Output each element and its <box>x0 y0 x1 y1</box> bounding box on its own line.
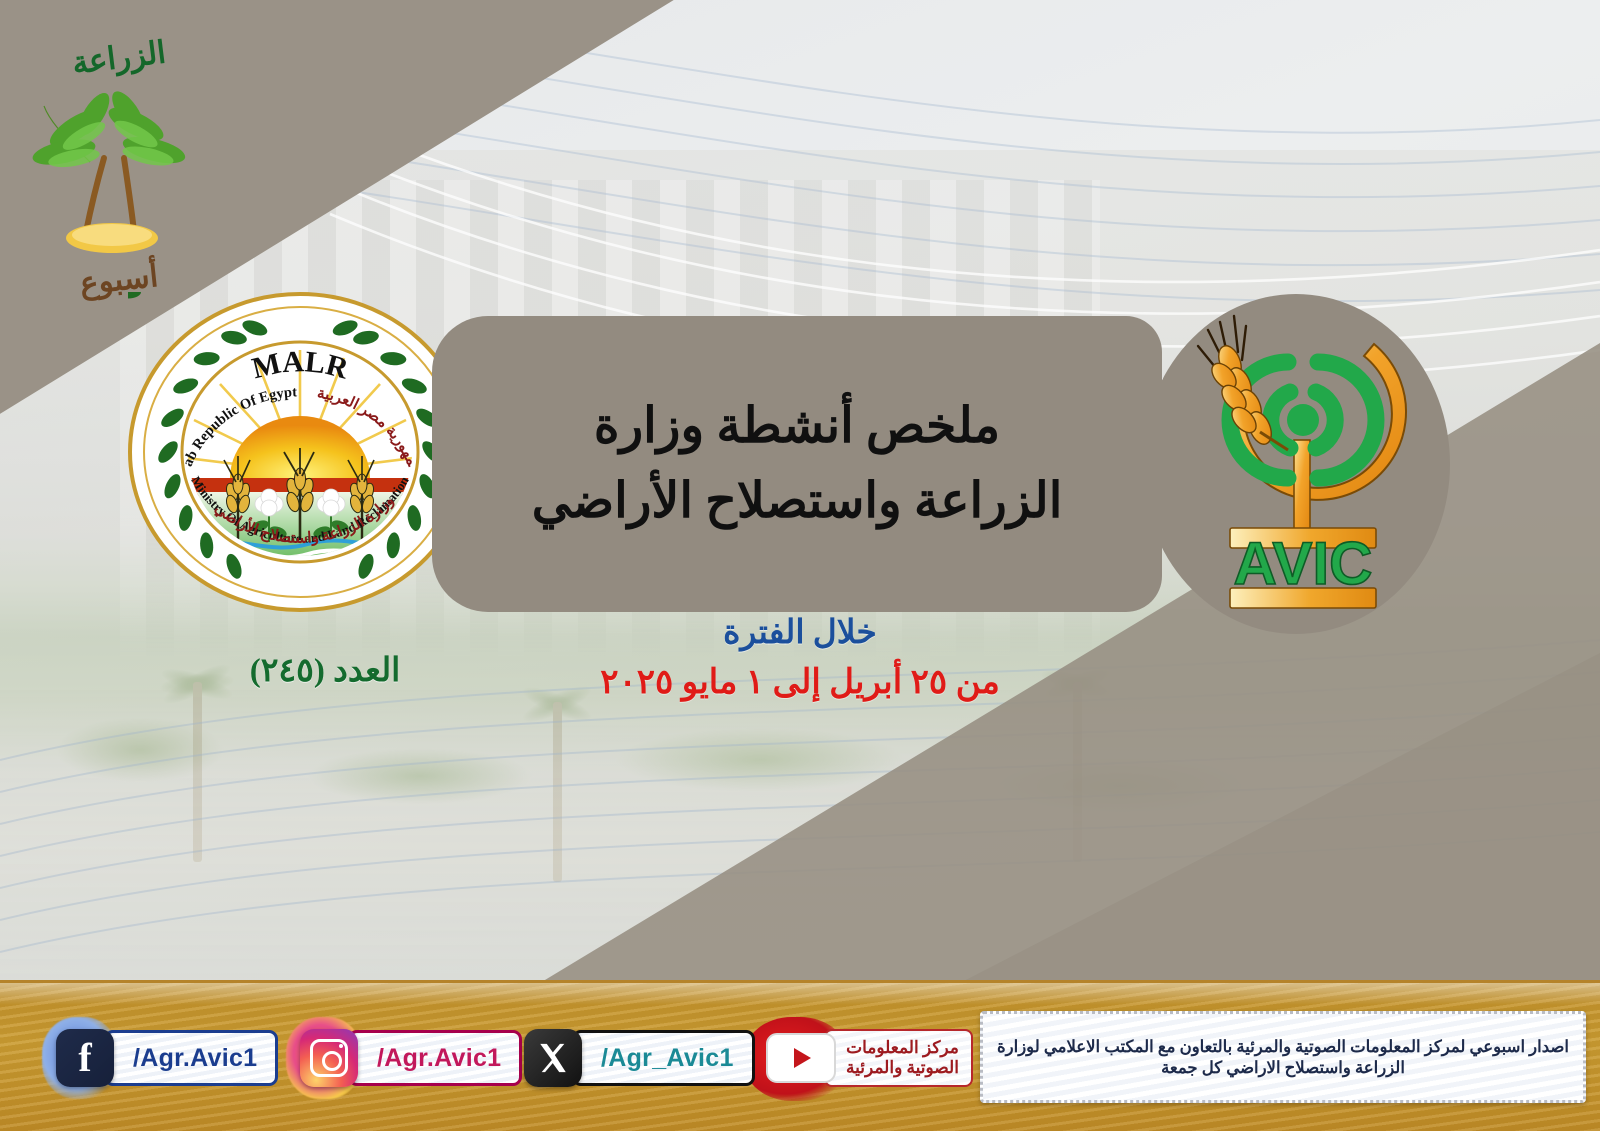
youtube-label: مركز المعلومات الصوتية والمرئية <box>824 1029 973 1087</box>
social-link-instagram[interactable]: /Agr.Avic1 <box>300 1025 522 1091</box>
avic-wordmark: AVIC <box>1234 530 1373 597</box>
instagram-icon <box>300 1029 358 1087</box>
avic-logo: AVIC <box>1168 300 1438 620</box>
period-dates: من ٢٥ أبريل إلى ١ مايو ٢٠٢٥ <box>540 662 1060 702</box>
youtube-label-line2: الصوتية والمرئية <box>846 1058 959 1078</box>
title-line-2: الزراعة واستصلاح الأراضي <box>532 469 1063 534</box>
palm-tree-icon <box>24 66 214 286</box>
issue-number: العدد (٢٤٥) <box>215 650 435 690</box>
facebook-icon: f <box>56 1029 114 1087</box>
instagram-handle[interactable]: /Agr.Avic1 <box>348 1030 522 1086</box>
footer-sheen <box>0 983 1600 1005</box>
social-link-facebook[interactable]: f /Agr.Avic1 <box>56 1025 278 1091</box>
title-line-1: ملخص أنشطة وزارة <box>594 394 1000 459</box>
facebook-handle[interactable]: /Agr.Avic1 <box>104 1030 278 1086</box>
x-twitter-handle[interactable]: /Agr_Avic1 <box>572 1030 755 1086</box>
malr-emblem: MALR Arab Republic Of Egypt Ministry Of … <box>128 292 472 612</box>
footer-caption-box: اصدار اسبوعي لمركز المعلومات الصوتية وال… <box>980 1011 1586 1103</box>
week-of-agriculture-logo: الزراعة <box>24 18 214 300</box>
poster-canvas: الزراعة <box>0 0 1600 1131</box>
social-link-x-twitter[interactable]: /Agr_Avic1 <box>524 1025 755 1091</box>
page-title: ملخص أنشطة وزارة الزراعة واستصلاح الأراض… <box>452 336 1142 592</box>
footer-caption-text: اصدار اسبوعي لمركز المعلومات الصوتية وال… <box>983 1036 1583 1079</box>
youtube-label-line1: مركز المعلومات <box>846 1038 959 1058</box>
period-block: خلال الفترة من ٢٥ أبريل إلى ١ مايو ٢٠٢٥ <box>540 612 1060 702</box>
x-twitter-icon <box>524 1029 582 1087</box>
youtube-icon <box>766 1033 836 1083</box>
period-label: خلال الفترة <box>540 612 1060 652</box>
footer-band: f /Agr.Avic1 /Agr.Avic1 /Agr_Avic1 <box>0 980 1600 1131</box>
social-link-youtube[interactable]: مركز المعلومات الصوتية والمرئية <box>766 1027 973 1089</box>
